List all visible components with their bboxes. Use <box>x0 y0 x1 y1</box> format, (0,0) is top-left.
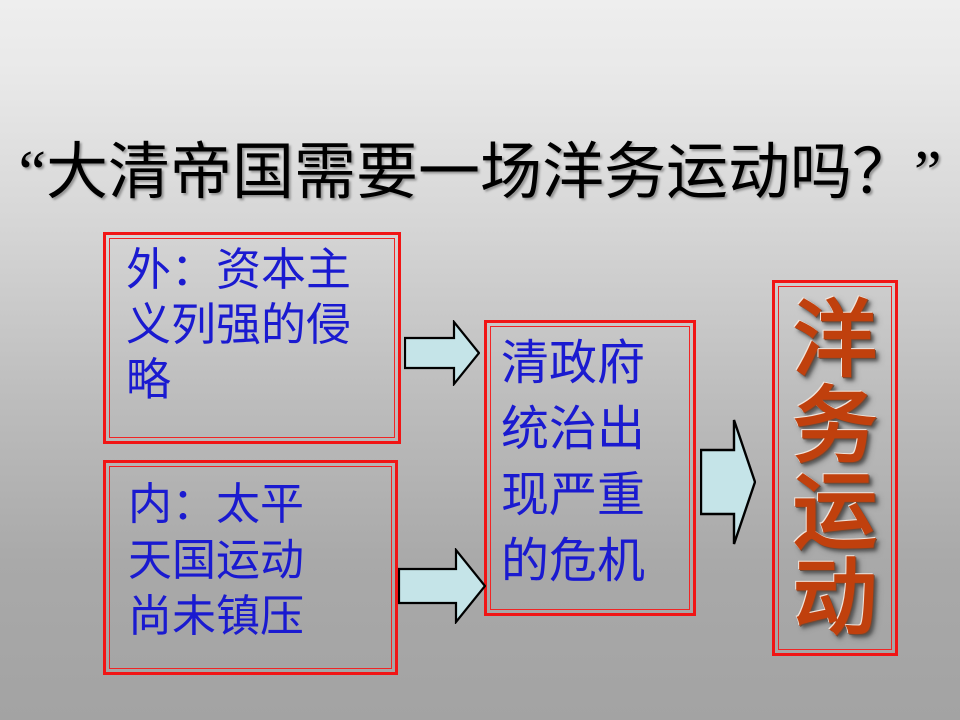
box-line: 外：资本主 <box>126 243 392 298</box>
box-qing-crisis-text: 清政府 统治出 现严重 的危机 <box>487 323 693 613</box>
box-line: 统治出 <box>501 397 689 463</box>
box-line: 内：太平 <box>128 477 389 533</box>
wordart-char: 运 <box>793 471 877 557</box>
box-external-causes-text: 外：资本主 义列强的侵 略 <box>106 235 398 441</box>
wordart-result-text: 洋 务 运 动 <box>775 283 895 653</box>
box-line: 现严重 <box>501 463 689 529</box>
box-line: 的危机 <box>501 529 689 595</box>
page-title: “大清帝国需要一场洋务运动吗？” <box>0 136 960 210</box>
box-internal-causes: 内：太平 天国运动 尚未镇压 <box>103 460 398 675</box>
box-line: 略 <box>126 353 392 408</box>
box-external-causes: 外：资本主 义列强的侵 略 <box>103 232 401 444</box>
box-line: 尚未镇压 <box>128 589 389 645</box>
box-internal-causes-text: 内：太平 天国运动 尚未镇压 <box>106 463 395 672</box>
arrow-crisis-to-result-icon <box>700 418 756 546</box>
arrow-external-to-crisis-icon <box>404 320 480 386</box>
box-line: 义列强的侵 <box>126 298 392 353</box>
wordart-char: 动 <box>793 557 877 643</box>
wordart-char: 洋 <box>793 299 877 385</box>
box-result-movement: 洋 务 运 动 <box>772 280 898 656</box>
arrow-internal-to-crisis-icon <box>398 548 486 624</box>
box-qing-crisis: 清政府 统治出 现严重 的危机 <box>484 320 696 616</box>
wordart-char: 务 <box>793 385 877 471</box>
box-line: 清政府 <box>501 331 689 397</box>
box-line: 天国运动 <box>128 533 389 589</box>
slide-canvas: “大清帝国需要一场洋务运动吗？” 外：资本主 义列强的侵 略 内：太平 天国运动… <box>0 0 960 720</box>
